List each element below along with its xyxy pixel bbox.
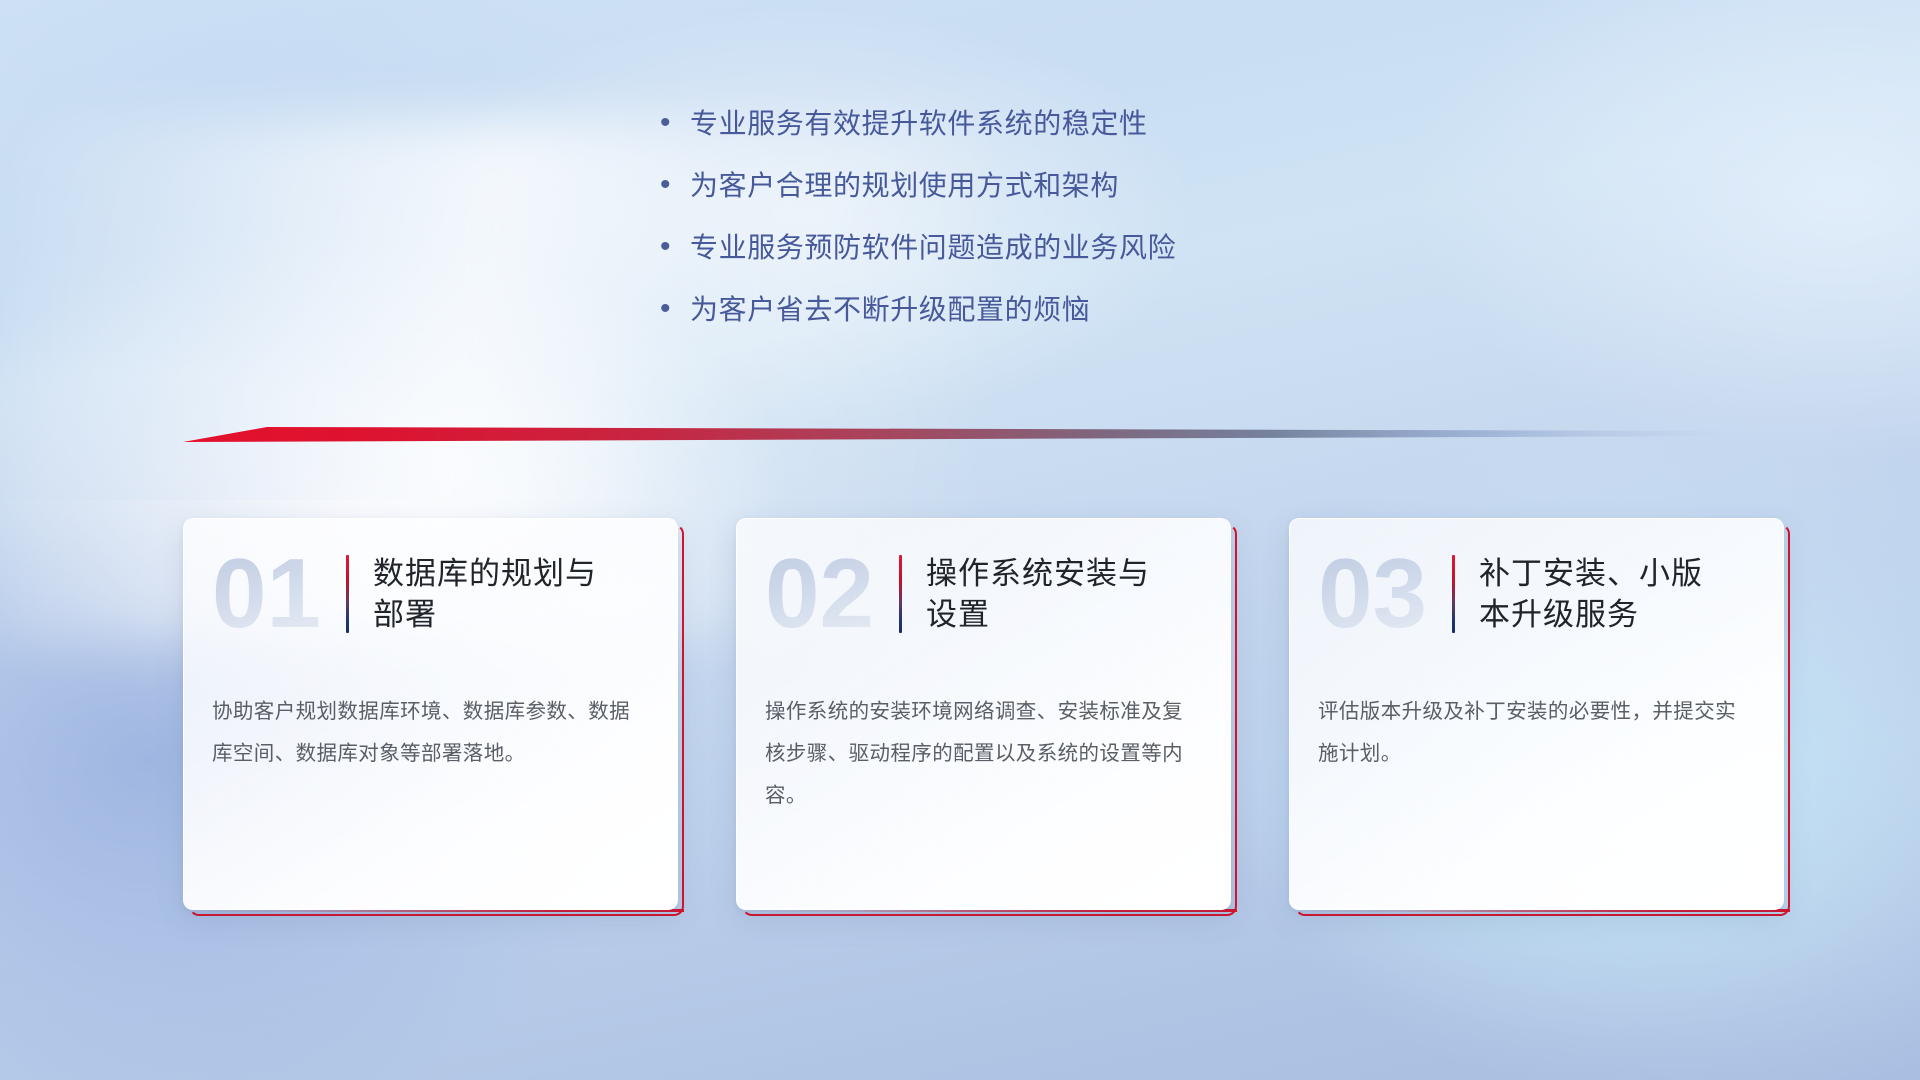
service-card[interactable]: 01 数据库的规划与部署 协助客户规划数据库环境、数据库参数、数据库空间、数据库… [183,518,678,910]
bullet-point-icon: • [660,232,690,262]
slide-canvas: • 专业服务有效提升软件系统的稳定性 • 为客户合理的规划使用方式和架构 • 专… [0,0,1920,1080]
benefits-bullet-list: • 专业服务有效提升软件系统的稳定性 • 为客户合理的规划使用方式和架构 • 专… [660,108,1420,356]
card-description: 操作系统的安装环境网络调查、安装标准及复核步骤、驱动程序的配置以及系统的设置等内… [737,669,1230,817]
card-surface: 02 操作系统安装与设置 操作系统的安装环境网络调查、安装标准及复核步骤、驱动程… [736,518,1231,910]
bullet-text: 专业服务预防软件问题造成的业务风险 [690,232,1176,264]
tapered-divider [183,424,1743,444]
card-surface: 01 数据库的规划与部署 协助客户规划数据库环境、数据库参数、数据库空间、数据库… [183,518,678,910]
card-header: 02 操作系统安装与设置 [737,519,1230,669]
card-header: 03 补丁安装、小版本升级服务 [1290,519,1783,669]
list-item: • 为客户省去不断升级配置的烦恼 [660,294,1420,328]
card-header: 01 数据库的规划与部署 [184,519,677,669]
service-card[interactable]: 02 操作系统安装与设置 操作系统的安装环境网络调查、安装标准及复核步骤、驱动程… [736,518,1231,910]
bullet-point-icon: • [660,108,690,138]
card-description: 评估版本升级及补丁安装的必要性，并提交实施计划。 [1290,669,1783,775]
list-item: • 为客户合理的规划使用方式和架构 [660,170,1420,204]
card-number-watermark: 01 [210,539,346,649]
card-title: 操作系统安装与设置 [926,553,1176,635]
bullet-point-icon: • [660,294,690,324]
card-title: 数据库的规划与部署 [373,553,623,635]
card-number-glyph: 02 [765,539,874,648]
bullet-text: 为客户省去不断升级配置的烦恼 [690,294,1090,326]
card-accent-bar [899,555,902,633]
card-number-glyph: 01 [212,539,321,648]
card-number-watermark: 03 [1316,539,1452,649]
background-glow-top-left [0,0,620,500]
service-cards-row: 01 数据库的规划与部署 协助客户规划数据库环境、数据库参数、数据库空间、数据库… [183,518,1783,918]
card-accent-bar [346,555,349,633]
bullet-text: 专业服务有效提升软件系统的稳定性 [690,108,1148,140]
list-item: • 专业服务有效提升软件系统的稳定性 [660,108,1420,142]
card-title: 补丁安装、小版本升级服务 [1479,553,1729,635]
card-accent-bar [1452,555,1455,633]
list-item: • 专业服务预防软件问题造成的业务风险 [660,232,1420,266]
bullet-point-icon: • [660,170,690,200]
service-card[interactable]: 03 补丁安装、小版本升级服务 评估版本升级及补丁安装的必要性，并提交实施计划。 [1289,518,1784,910]
card-number-glyph: 03 [1318,539,1427,648]
card-surface: 03 补丁安装、小版本升级服务 评估版本升级及补丁安装的必要性，并提交实施计划。 [1289,518,1784,910]
card-description: 协助客户规划数据库环境、数据库参数、数据库空间、数据库对象等部署落地。 [184,669,677,775]
bullet-text: 为客户合理的规划使用方式和架构 [690,170,1119,202]
card-number-watermark: 02 [763,539,899,649]
